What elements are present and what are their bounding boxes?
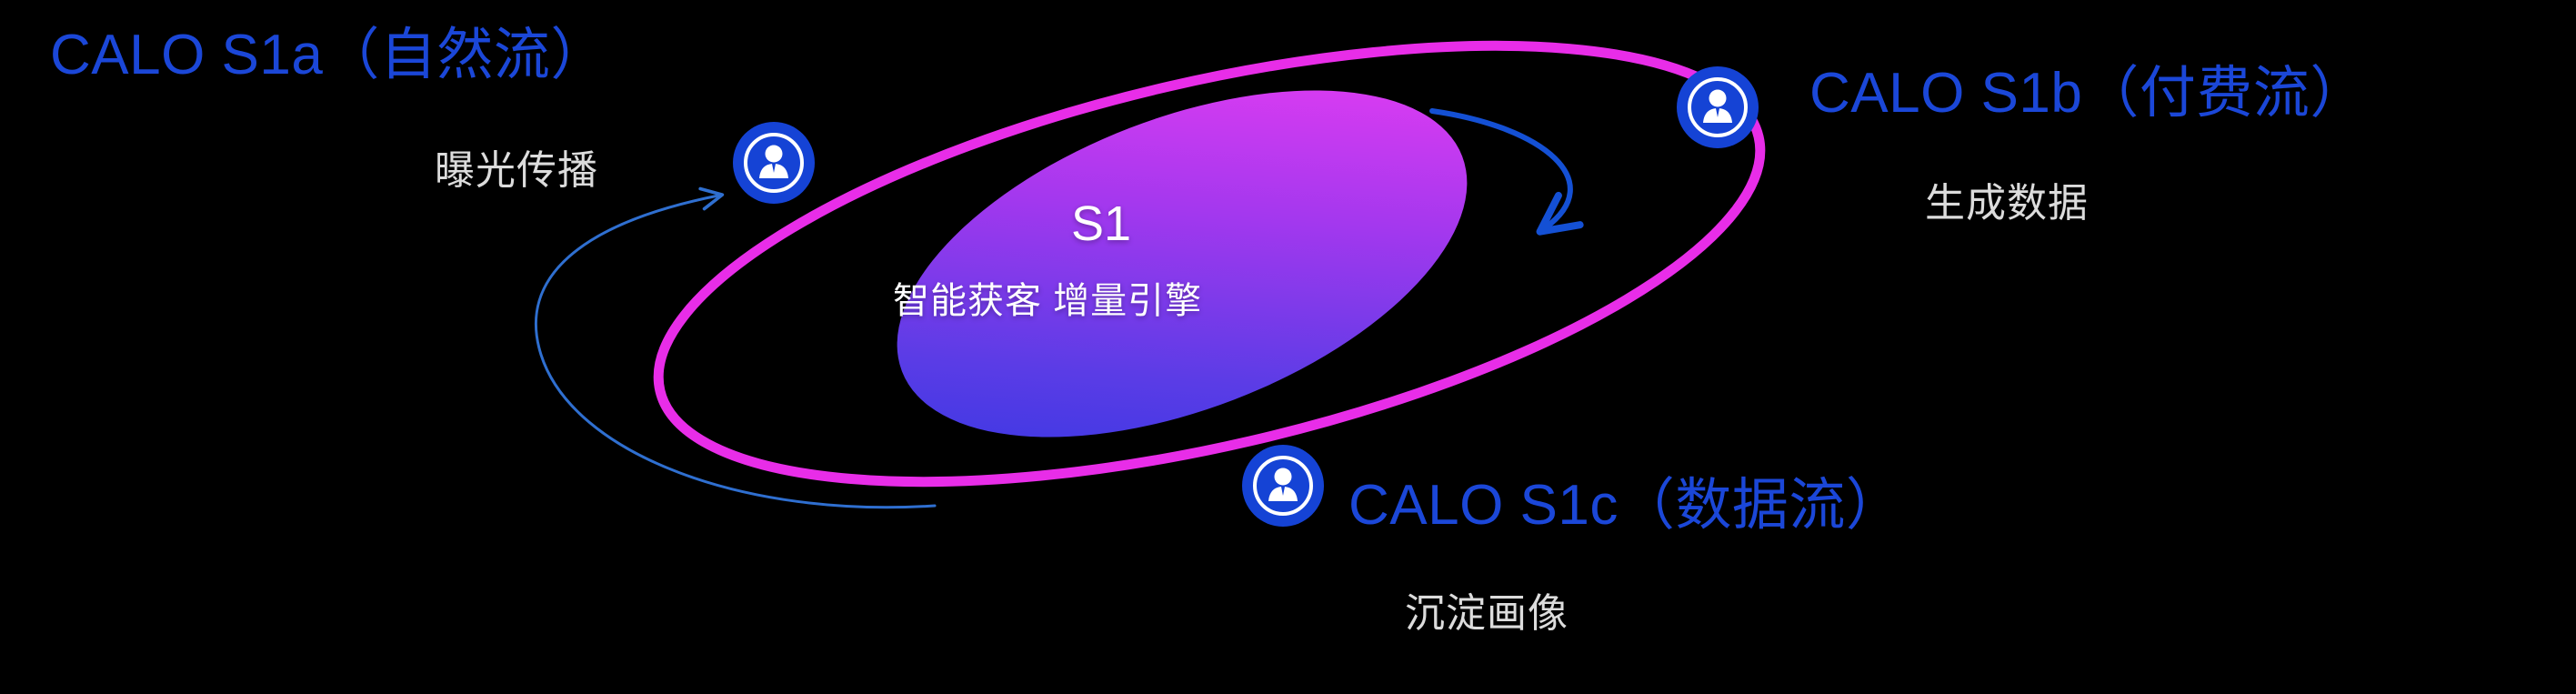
node-caption-s1c: 沉淀画像 — [1405, 594, 1569, 634]
node-icon-s1b[interactable] — [1677, 66, 1759, 148]
core-ellipse — [850, 20, 1515, 507]
node-caption-s1b: 生成数据 — [1925, 184, 2089, 224]
node-caption-s1a: 曝光传播 — [435, 151, 598, 191]
core-ellipse-group — [850, 20, 1515, 507]
node-title-s1c[interactable]: CALO S1c（数据流） — [1348, 478, 1902, 534]
diagram-canvas: S1 智能获客 增量引擎 CALO S1a（自然流） 曝光传播 CALO S1b… — [0, 0, 2576, 694]
core-title: S1 — [1071, 196, 1131, 252]
node-icon-s1a[interactable] — [733, 122, 815, 204]
core-subtitle: 智能获客 增量引擎 — [893, 271, 1202, 324]
node-icon-s1c[interactable] — [1242, 445, 1324, 527]
node-title-s1a[interactable]: CALO S1a（自然流） — [50, 27, 607, 84]
node-title-s1b[interactable]: CALO S1b（付费流） — [1809, 65, 2367, 122]
